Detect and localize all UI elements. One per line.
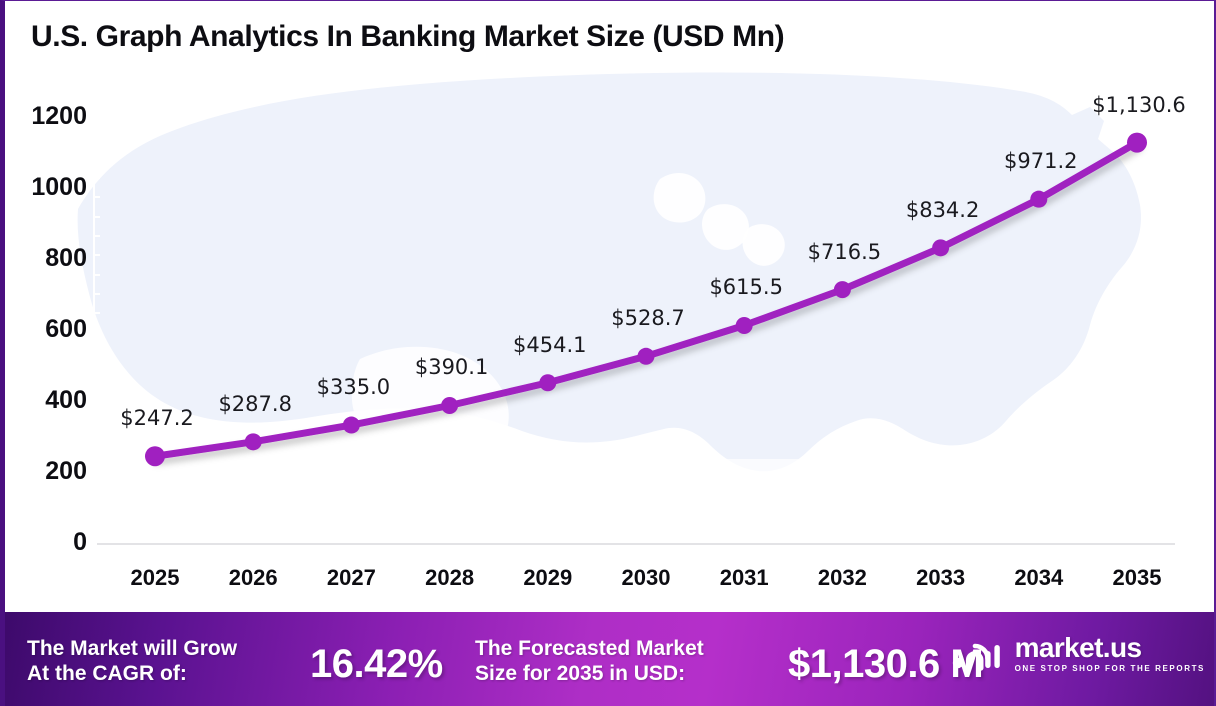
page-title: U.S. Graph Analytics In Banking Market S… — [31, 20, 784, 54]
chart-infographic: U.S. Graph Analytics In Banking Market S… — [0, 0, 1216, 706]
series-line — [155, 143, 1137, 457]
series-markers — [145, 133, 1147, 467]
data-point-marker[interactable] — [932, 239, 949, 256]
brand-logo[interactable]: market.us ONE STOP SHOP FOR THE REPORTS — [951, 634, 1205, 673]
data-point-label: $971.2 — [1004, 149, 1077, 173]
data-point-label: $528.7 — [611, 306, 684, 330]
data-point-label: $1,130.6 — [1092, 93, 1186, 117]
data-point-marker[interactable] — [539, 374, 556, 391]
logo-wordmark: market.us — [1015, 634, 1205, 662]
data-point-label: $454.1 — [513, 333, 586, 357]
data-point-label: $390.1 — [415, 355, 488, 379]
data-point-marker[interactable] — [736, 317, 753, 334]
data-point-label: $335.0 — [317, 375, 390, 399]
data-point-label: $716.5 — [808, 240, 881, 264]
data-point-marker[interactable] — [1127, 133, 1147, 153]
plot-area: 020040060080010001200 $247.2$287.8$335.0… — [5, 1, 1216, 613]
data-point-label: $287.8 — [218, 392, 291, 416]
data-point-label: $834.2 — [906, 198, 979, 222]
data-point-marker[interactable] — [245, 433, 262, 450]
data-point-marker[interactable] — [638, 348, 655, 365]
market-us-logo-mark-icon — [951, 635, 1005, 673]
cagr-caption: The Market will Grow At the CAGR of: — [27, 637, 237, 687]
data-point-marker[interactable] — [441, 397, 458, 414]
summary-banner: The Market will Grow At the CAGR of: 16.… — [5, 612, 1216, 706]
data-point-marker[interactable] — [145, 446, 165, 466]
cagr-value: 16.42% — [310, 642, 443, 687]
data-point-label: $247.2 — [120, 406, 193, 430]
data-point-marker[interactable] — [834, 281, 851, 298]
data-point-label: $615.5 — [709, 275, 782, 299]
forecast-caption: The Forecasted Market Size for 2035 in U… — [475, 637, 704, 687]
logo-tagline: ONE STOP SHOP FOR THE REPORTS — [1015, 665, 1205, 673]
data-point-marker[interactable] — [343, 417, 360, 434]
data-point-marker[interactable] — [1030, 191, 1047, 208]
